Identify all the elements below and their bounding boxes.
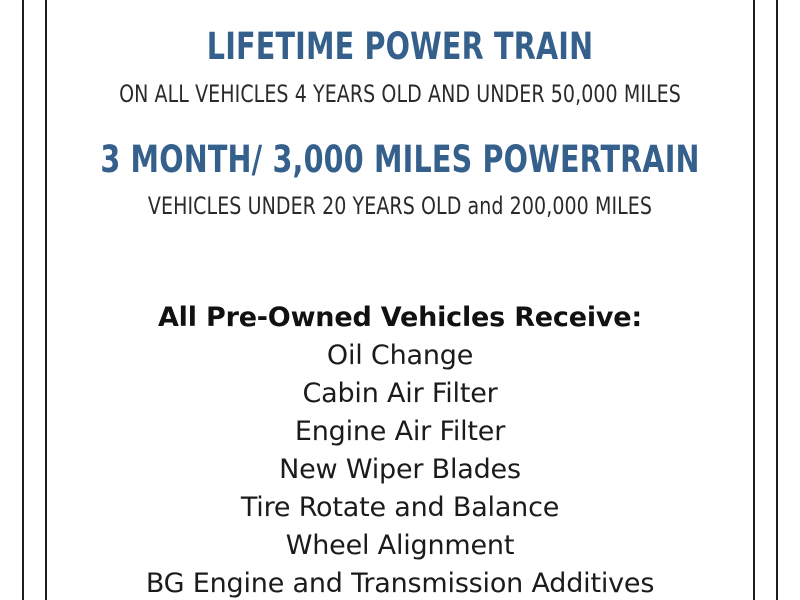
promo-heading-secondary: 3 MONTH/ 3,000 MILES POWERTRAIN	[96, 141, 703, 178]
promo-block-3month-powertrain: 3 MONTH/ 3,000 MILES POWERTRAIN VEHICLES…	[47, 141, 753, 218]
promo-subheading-secondary: VEHICLES UNDER 20 YEARS OLD and 200,000 …	[89, 194, 710, 218]
list-item: BG Engine and Transmission Additives	[47, 565, 753, 600]
list-item: Tire Rotate and Balance	[47, 489, 753, 527]
services-list-title: All Pre-Owned Vehicles Receive:	[47, 299, 753, 337]
promo-subheading-primary: ON ALL VEHICLES 4 YEARS OLD AND UNDER 50…	[89, 82, 710, 106]
list-item: Oil Change	[47, 337, 753, 375]
list-item: Engine Air Filter	[47, 413, 753, 451]
list-item: Cabin Air Filter	[47, 375, 753, 413]
promo-block-lifetime-powertrain: LIFETIME POWER TRAIN ON ALL VEHICLES 4 Y…	[47, 28, 753, 106]
services-list: All Pre-Owned Vehicles Receive: Oil Chan…	[47, 299, 753, 600]
flyer-content: LIFETIME POWER TRAIN ON ALL VEHICLES 4 Y…	[47, 0, 753, 600]
frame-rule-right-outer	[776, 0, 778, 600]
list-item: New Wiper Blades	[47, 451, 753, 489]
promo-heading-primary: LIFETIME POWER TRAIN	[96, 28, 703, 65]
list-item: Wheel Alignment	[47, 527, 753, 565]
frame-rule-left-outer	[22, 0, 24, 600]
warranty-flyer: LIFETIME POWER TRAIN ON ALL VEHICLES 4 Y…	[0, 0, 800, 600]
frame-rule-right-inner	[753, 0, 755, 600]
